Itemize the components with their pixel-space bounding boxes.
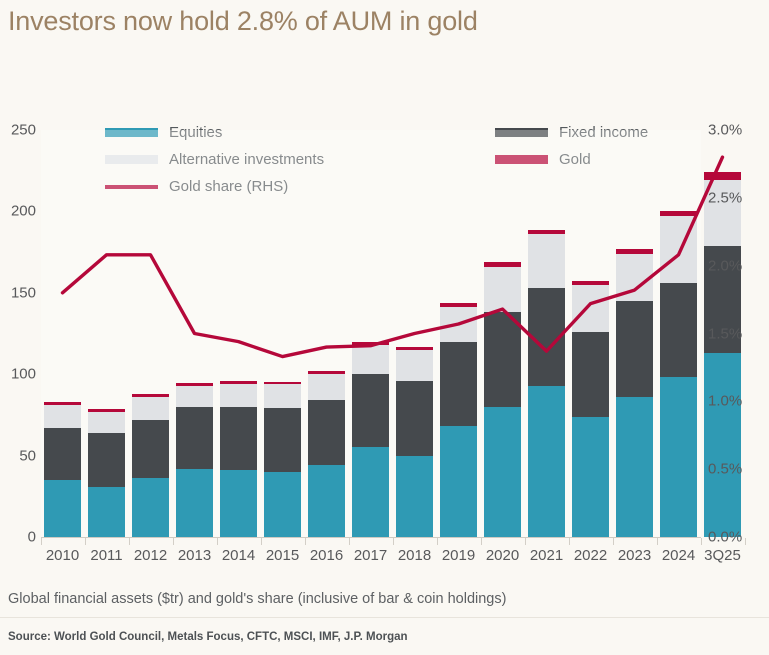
x-axis-label: 2015 <box>266 547 299 564</box>
x-axis-label: 2018 <box>398 547 431 564</box>
gold-share-line <box>63 157 723 356</box>
x-axis-label: 2011 <box>90 547 122 564</box>
x-axis-tick-mark <box>481 538 482 545</box>
x-axis-label: 2010 <box>46 547 79 564</box>
footer-divider <box>0 617 769 618</box>
y-axis-right-tick: 1.0% <box>708 393 764 410</box>
plot-area <box>41 130 701 537</box>
y-axis-right-tick: 3.0% <box>708 122 764 139</box>
y-axis-left: 050100150200250 <box>0 130 36 537</box>
page-title: Investors now hold 2.8% of AUM in gold <box>8 6 478 37</box>
x-axis-tick-mark <box>129 538 130 545</box>
x-axis-tick-mark <box>701 538 702 545</box>
y-axis-left-tick: 50 <box>0 447 36 464</box>
x-axis-tick-mark <box>85 538 86 545</box>
x-axis-label: 2013 <box>178 547 211 564</box>
y-axis-left-tick: 100 <box>0 366 36 383</box>
y-axis-left-tick: 200 <box>0 203 36 220</box>
x-axis-label: 2020 <box>486 547 519 564</box>
x-axis-tick-mark <box>173 538 174 545</box>
x-axis-label: 2021 <box>530 547 563 564</box>
x-axis-tick-mark <box>569 538 570 545</box>
x-axis-tick-mark <box>437 538 438 545</box>
x-axis-label: 2022 <box>574 547 607 564</box>
x-axis-tick-mark <box>525 538 526 545</box>
y-axis-right-tick: 1.5% <box>708 325 764 342</box>
x-axis-tick-mark <box>217 538 218 545</box>
x-axis-tick-mark <box>393 538 394 545</box>
x-axis: 2010201120122013201420152016201720182019… <box>41 538 701 566</box>
x-axis-tick-mark <box>261 538 262 545</box>
y-axis-right-tick: 0.0% <box>708 529 764 546</box>
x-axis-tick-mark <box>657 538 658 545</box>
y-axis-right-tick: 2.5% <box>708 189 764 206</box>
chart-subcaption: Global financial assets ($tr) and gold's… <box>8 591 506 607</box>
x-axis-tick-mark <box>349 538 350 545</box>
x-axis-label: 2012 <box>134 547 167 564</box>
chart-figure: Investors now hold 2.8% of AUM in gold E… <box>0 0 769 655</box>
y-axis-right-tick: 0.5% <box>708 461 764 478</box>
y-axis-left-tick: 0 <box>0 529 36 546</box>
x-axis-tick-mark <box>305 538 306 545</box>
y-axis-right-tick: 2.0% <box>708 257 764 274</box>
x-axis-label: 2019 <box>442 547 475 564</box>
x-axis-label: 2017 <box>354 547 387 564</box>
x-axis-label: 2014 <box>222 547 255 564</box>
x-axis-tick-mark <box>613 538 614 545</box>
chart-source: Source: World Gold Council, Metals Focus… <box>8 631 408 643</box>
y-axis-left-tick: 150 <box>0 284 36 301</box>
x-axis-tick-mark <box>745 538 746 545</box>
x-axis-label: 2023 <box>618 547 651 564</box>
x-axis-label: 3Q25 <box>704 547 741 564</box>
x-axis-label: 2016 <box>310 547 343 564</box>
y-axis-right: 0.0%0.5%1.0%1.5%2.0%2.5%3.0% <box>708 130 766 537</box>
gold-share-line-layer <box>41 130 701 537</box>
x-axis-label: 2024 <box>662 547 695 564</box>
y-axis-left-tick: 250 <box>0 122 36 139</box>
x-axis-tick-mark <box>41 538 42 545</box>
